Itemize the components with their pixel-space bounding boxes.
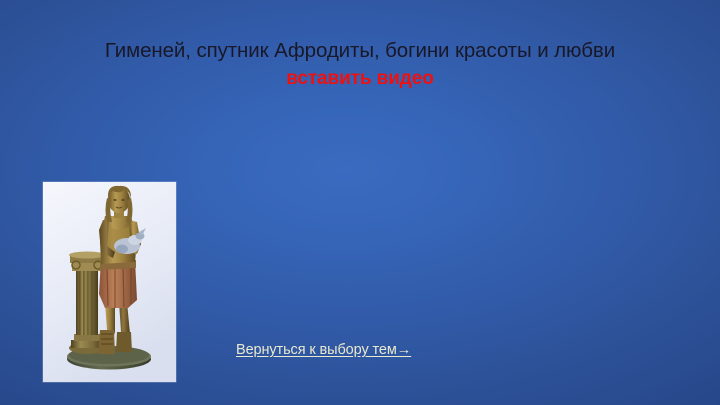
presentation-slide: Гименей, спутник Афродиты, богини красот… — [0, 0, 720, 405]
title-subtext-insert-video: вставить видео — [36, 67, 684, 90]
slide-title-block: Гименей, спутник Афродиты, богини красот… — [36, 38, 684, 90]
return-to-topics-link[interactable]: Вернуться к выбору тем→ — [236, 341, 411, 360]
statue-illustration-icon — [43, 182, 176, 382]
page-title: Гименей, спутник Афродиты, богини красот… — [36, 38, 684, 63]
statue-image — [43, 182, 176, 382]
